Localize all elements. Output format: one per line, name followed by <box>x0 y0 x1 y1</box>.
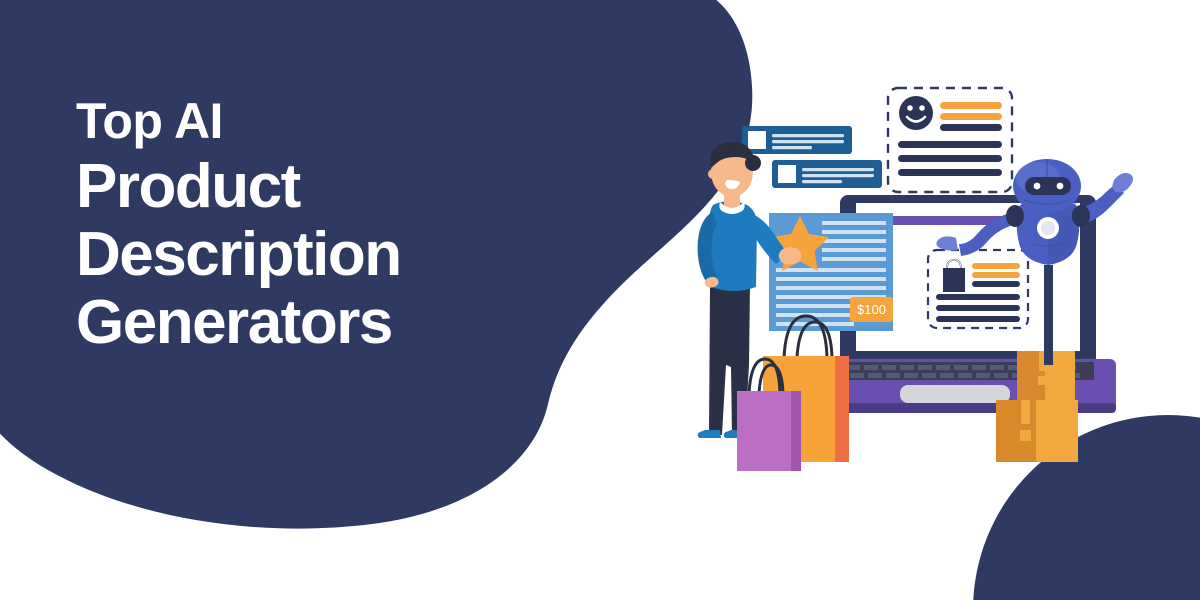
message-card-top <box>742 126 852 154</box>
headline-line-2: Product <box>76 156 576 218</box>
robot-eye-right <box>1057 183 1064 190</box>
dashed-card-review-accent-1 <box>940 102 1002 109</box>
robot-shoulder-left <box>1006 205 1024 227</box>
person-ear <box>708 169 718 179</box>
product-description-card: $100 <box>769 213 893 331</box>
headline-line-1: Top AI <box>76 96 576 146</box>
headline-line-4: Generators <box>76 292 576 354</box>
person-shoe-left <box>698 430 721 438</box>
robot-eye-left <box>1034 183 1041 190</box>
headline-line-3: Description <box>76 224 576 286</box>
dashed-card-product-line-1 <box>936 294 1020 300</box>
robot-shoulder-right <box>1072 205 1090 227</box>
dashed-card-review-line-2 <box>898 155 1002 162</box>
banner-canvas: Top AI Product Description Generators <box>0 0 1200 600</box>
message-card-bottom-avatar <box>778 165 796 183</box>
dashed-card-review-line-3 <box>898 169 1002 176</box>
message-card-top-avatar <box>748 131 766 149</box>
page-title: Top AI Product Description Generators <box>76 96 576 360</box>
robot-stand-pole <box>1044 265 1053 365</box>
dashed-card-review-line-1 <box>898 141 1002 148</box>
message-card-bottom <box>772 160 882 188</box>
robot-chest-button-inner <box>1041 221 1055 235</box>
smiley-face-icon <box>899 96 933 130</box>
dashed-card-review-inline-1 <box>940 124 1002 131</box>
dashed-card-review-accent-2 <box>940 113 1002 120</box>
dashed-card-product-line-3 <box>936 316 1020 322</box>
dashed-card-product-inline-1 <box>972 281 1020 287</box>
price-tag: $100 <box>850 297 893 322</box>
person-hair-bun <box>745 155 761 171</box>
laptop-trackpad <box>900 385 1010 403</box>
robot-hand-right <box>1112 173 1133 193</box>
person-hand-right <box>779 247 801 264</box>
price-tag-label: $100 <box>857 302 886 317</box>
robot-visor <box>1025 177 1071 195</box>
dashed-card-product-accent-2 <box>972 272 1020 278</box>
cardboard-box-bottom <box>996 400 1078 462</box>
dashed-card-product <box>928 250 1028 328</box>
dashed-card-product-line-2 <box>936 305 1020 311</box>
dashed-card-product-accent-1 <box>972 263 1020 269</box>
dashed-card-review <box>888 88 1012 192</box>
